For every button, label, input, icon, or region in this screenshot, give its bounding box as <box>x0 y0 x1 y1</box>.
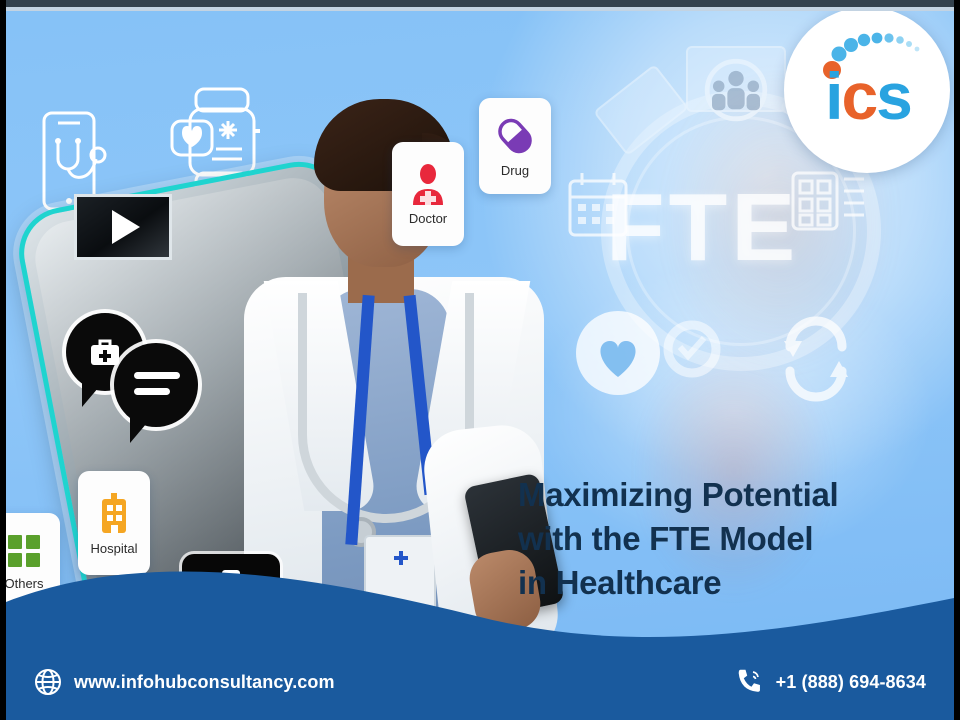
gear-people-icon <box>688 44 784 140</box>
globe-icon <box>34 668 62 696</box>
logo-letter-i: i <box>825 59 841 133</box>
doctor-person-icon <box>408 163 448 205</box>
footer-website-text: www.infohubconsultancy.com <box>74 672 335 693</box>
fte-watermark-text: FTE <box>606 173 799 283</box>
gear-icon <box>654 311 730 387</box>
letterbox-strip-top-light <box>0 7 960 11</box>
letterbox-edge-right <box>954 0 960 720</box>
letterbox-strip-top <box>0 0 960 7</box>
calendar-icon <box>566 171 630 243</box>
video-play-button[interactable] <box>74 194 172 260</box>
footer-phone[interactable]: +1 (888) 694-8634 <box>738 668 926 696</box>
card-drug[interactable]: Drug <box>479 98 551 194</box>
banner-background: FTE <box>6 11 954 720</box>
letterbox-edge-left <box>0 0 6 720</box>
chat-bubble-equals-icon <box>114 343 198 427</box>
card-label: Doctor <box>409 211 447 226</box>
card-doctor[interactable]: Doctor <box>392 142 464 246</box>
footer-wave: www.infohubconsultancy.com +1 (888) 694-… <box>6 540 954 720</box>
ics-logo[interactable]: ics <box>784 11 950 173</box>
headline-line-1: Maximizing Potential <box>518 473 938 517</box>
phone-ringing-icon <box>738 668 764 696</box>
play-triangle-icon <box>112 210 140 244</box>
heart-circle-icon <box>572 307 664 399</box>
footer-website[interactable]: www.infohubconsultancy.com <box>34 668 335 696</box>
logo-letter-c: c <box>841 59 876 133</box>
banner-image: FTE <box>0 0 960 720</box>
footer-phone-text: +1 (888) 694-8634 <box>776 672 926 693</box>
logo-letter-s: s <box>876 59 911 133</box>
footer-bar: www.infohubconsultancy.com +1 (888) 694-… <box>6 644 954 720</box>
logo-wordmark: ics <box>804 63 932 129</box>
sync-arrows-icon <box>768 311 864 407</box>
hospital-building-icon <box>94 491 134 535</box>
card-label: Drug <box>501 163 529 178</box>
pill-capsule-icon <box>494 115 536 157</box>
